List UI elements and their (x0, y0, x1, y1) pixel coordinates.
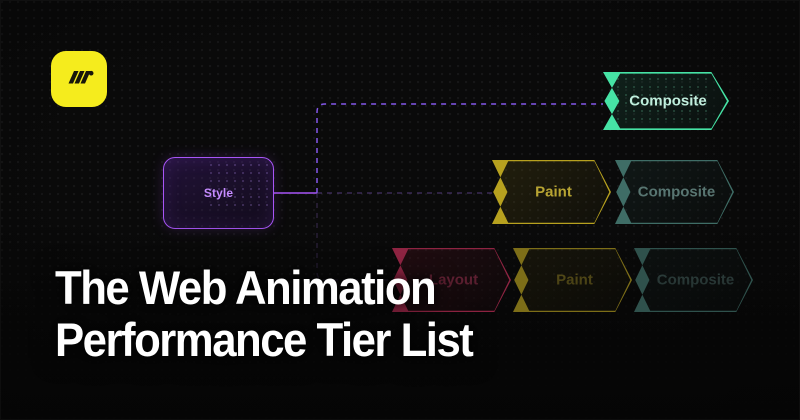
node-paint-medium[interactable]: Paint (492, 160, 611, 224)
node-fill (513, 248, 632, 312)
node-style-label: Style (204, 186, 233, 200)
brand-logo[interactable] (51, 51, 107, 107)
node-paint-worst[interactable]: Paint (513, 248, 632, 312)
node-composite-medium[interactable]: Composite (615, 160, 734, 224)
node-texture (617, 78, 713, 124)
node-composite-best[interactable]: Composite (603, 72, 729, 130)
page-title: The Web Animation Performance Tier List (55, 262, 472, 366)
node-fill (634, 248, 753, 312)
node-fill (615, 160, 734, 224)
page-title-line-1: The Web Animation (55, 262, 472, 314)
mobbin-logo-icon (51, 51, 107, 107)
node-fill (492, 160, 611, 224)
node-style[interactable]: Style (163, 157, 274, 229)
node-composite-worst[interactable]: Composite (634, 248, 753, 312)
page-title-line-2: Performance Tier List (55, 314, 472, 366)
poster-canvas: Style Composite Paint Composite Layout (0, 0, 800, 420)
